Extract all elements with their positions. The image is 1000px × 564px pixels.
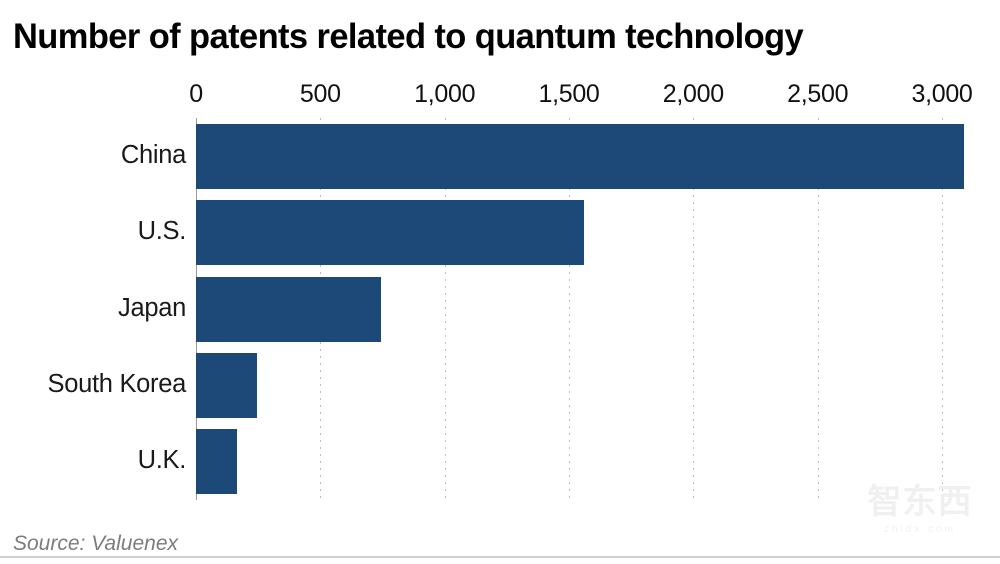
x-tick-label: 3,000 (911, 80, 972, 109)
bar (196, 353, 257, 418)
x-tick-label: 2,000 (663, 80, 724, 109)
x-tick-label: 1,500 (538, 80, 599, 109)
x-tick-label: 500 (300, 80, 341, 109)
x-tick-label: 2,500 (787, 80, 848, 109)
plot-area (196, 118, 942, 500)
chart-figure: Number of patents related to quantum tec… (0, 0, 1000, 564)
category-label: U.K. (0, 446, 186, 475)
category-label: South Korea (0, 370, 186, 399)
y-axis-category-labels: ChinaU.S.JapanSouth KoreaU.K. (0, 118, 186, 500)
category-label: China (0, 141, 186, 170)
page-title: Number of patents related to quantum tec… (13, 15, 978, 59)
bar (196, 200, 584, 265)
bar (196, 124, 964, 189)
bar (196, 429, 237, 494)
category-label: Japan (0, 294, 186, 323)
watermark-domain-text: zhidx.com (854, 524, 986, 535)
x-tick-label: 1,000 (414, 80, 475, 109)
x-tick-label: 0 (189, 80, 203, 109)
bottom-divider (0, 556, 1000, 558)
bar (196, 277, 381, 342)
source-note: Source: Valuenex (13, 532, 178, 556)
category-label: U.S. (0, 217, 186, 246)
